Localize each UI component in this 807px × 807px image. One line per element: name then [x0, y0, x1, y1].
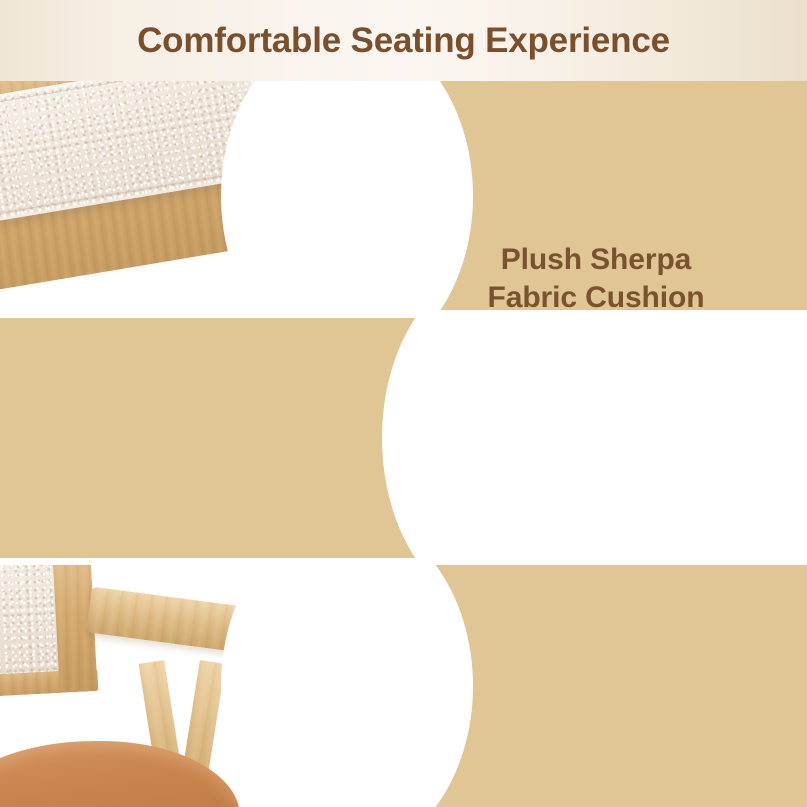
panel-divider — [0, 558, 807, 565]
tan-color-block — [387, 565, 807, 807]
header-banner: Comfortable Seating Experience — [0, 0, 807, 81]
feature-panel-smooth-supportive-armrests: Smooth & Supportive Armrests — [0, 565, 807, 807]
feature-panel-plush-sherpa-fabric-cushion: Plush Sherpa Fabric Cushion — [0, 81, 807, 310]
feature-panel-ergonomic-backrest: Ergonomic Backrest — [0, 318, 807, 558]
page-title: Comfortable Seating Experience — [137, 23, 670, 58]
caption-plush-sherpa-fabric-cushion: Plush Sherpa Fabric Cushion — [401, 241, 791, 310]
infographic-page: Comfortable Seating Experience Plush She… — [0, 0, 807, 807]
caption-line: Fabric Cushion — [401, 279, 791, 310]
caption-line: Plush Sherpa — [401, 241, 791, 279]
panel-divider — [0, 310, 807, 318]
tan-color-block — [0, 318, 470, 558]
